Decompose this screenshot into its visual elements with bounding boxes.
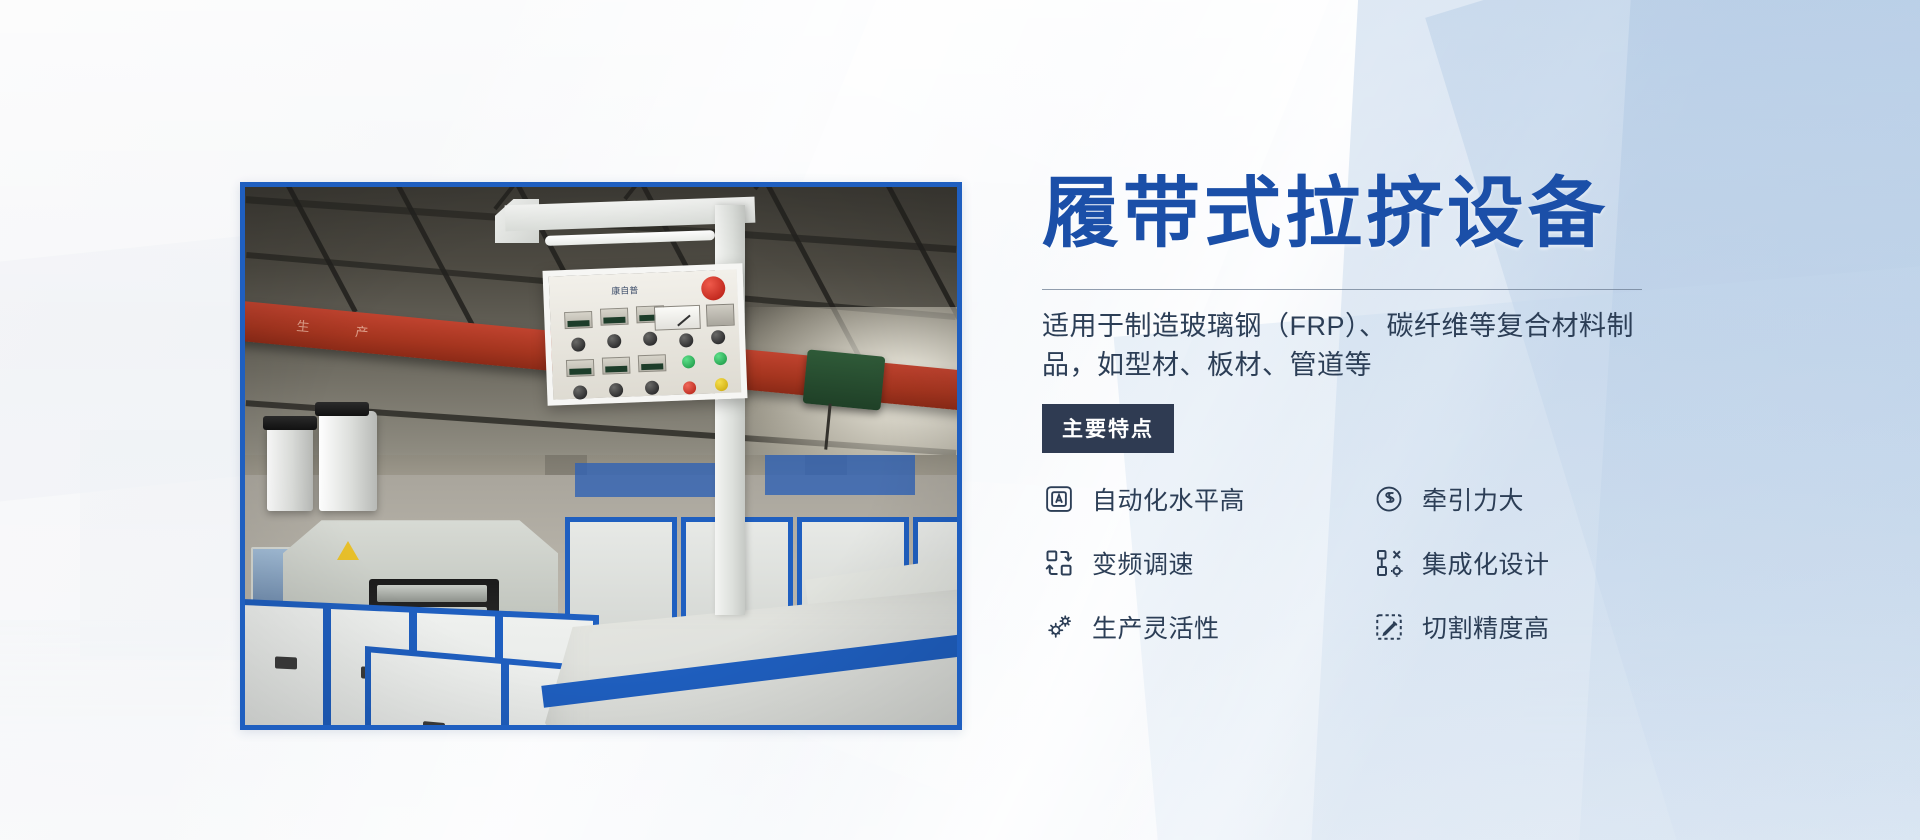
feature-item: 牵引力大 <box>1372 481 1682 517</box>
letter-a-box-icon <box>1042 482 1076 516</box>
product-photo: 生产 <box>245 187 957 725</box>
feature-list: 自动化水平高 牵引力大 <box>1042 481 1682 645</box>
product-banner: 生产 <box>0 0 1920 840</box>
gears-icon <box>1042 610 1076 644</box>
feature-item: 集成化设计 <box>1372 545 1682 581</box>
photo-vignette <box>245 187 957 725</box>
feature-label: 生产灵活性 <box>1092 609 1220 645</box>
integration-nodes-icon <box>1372 546 1406 580</box>
feature-item: 切割精度高 <box>1372 609 1682 645</box>
feature-item: 变频调速 <box>1042 545 1372 581</box>
feature-item: 自动化水平高 <box>1042 481 1372 517</box>
title-divider <box>1042 289 1642 290</box>
feature-label: 切割精度高 <box>1422 609 1550 645</box>
frequency-convert-icon <box>1042 546 1076 580</box>
product-photo-frame: 生产 <box>240 182 962 730</box>
feature-label: 变频调速 <box>1092 545 1194 581</box>
page-title: 履带式拉挤设备 <box>1042 176 1742 253</box>
feature-label: 集成化设计 <box>1422 545 1550 581</box>
feature-label: 牵引力大 <box>1422 481 1524 517</box>
cut-precision-pen-icon <box>1372 610 1406 644</box>
banner-content: 履带式拉挤设备 适用于制造玻璃钢（FRP）、碳纤维等复合材料制品，如型材、板材、… <box>1042 176 1742 645</box>
main-features-badge: 主要特点 <box>1042 404 1174 453</box>
feature-item: 生产灵活性 <box>1042 609 1372 645</box>
feature-label: 自动化水平高 <box>1092 481 1245 517</box>
product-description: 适用于制造玻璃钢（FRP）、碳纤维等复合材料制品，如型材、板材、管道等 <box>1042 307 1642 386</box>
traction-circle-icon <box>1372 482 1406 516</box>
